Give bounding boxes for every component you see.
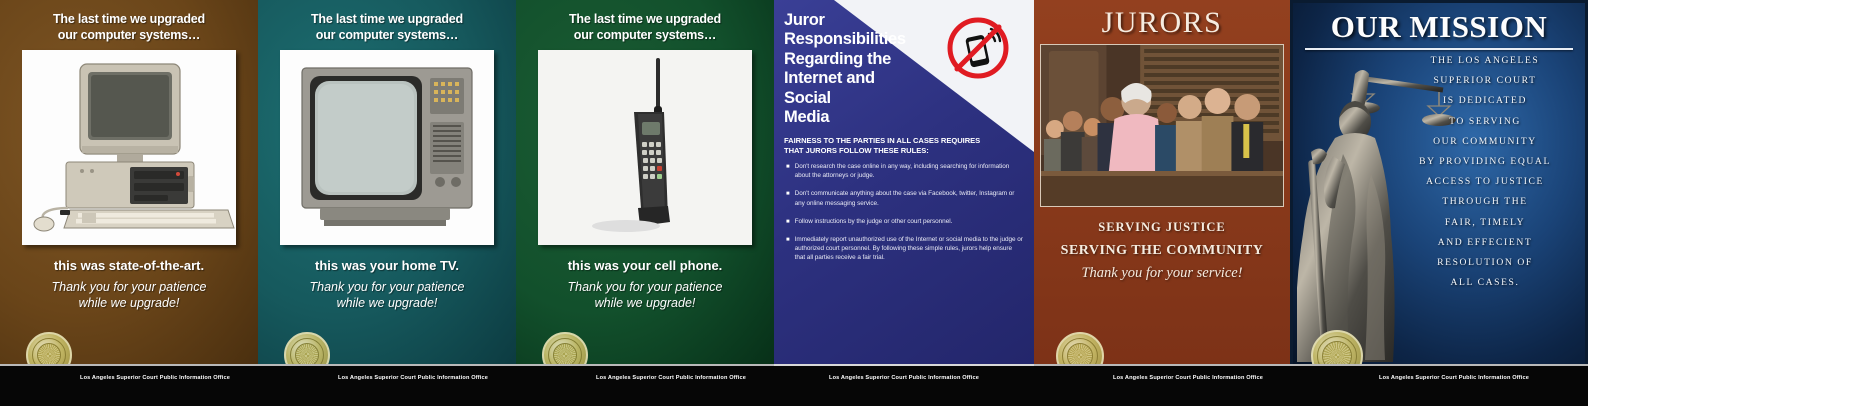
juror-rule-text: Don't communicate anything about the cas… bbox=[795, 189, 1023, 207]
poster-footer: Los Angeles Superior Court Public Inform… bbox=[774, 364, 1034, 406]
headline-line-1: The last time we upgraded bbox=[53, 11, 205, 27]
juror-rule-text: Don't research the case online in any wa… bbox=[795, 162, 1023, 180]
poster-subline: this was state-of-the-art. bbox=[54, 258, 204, 273]
poster-subline: this was your cell phone. bbox=[568, 258, 723, 273]
jurors-caption-2: SERVING THE COMMUNITY bbox=[1040, 243, 1284, 259]
poster-cellphone[interactable]: The last time we upgraded our computer s… bbox=[516, 0, 774, 406]
vintage-television-photo bbox=[280, 50, 494, 245]
mission-line: OUR COMMUNITY bbox=[1395, 136, 1575, 147]
thanks-line-2: while we upgrade! bbox=[310, 295, 465, 311]
juror-rule-item: ■ Don't research the case online in any … bbox=[786, 162, 1023, 180]
juror-title-line-3: Regarding the bbox=[784, 50, 924, 69]
juror-rule-item: ■ Don't communicate anything about the c… bbox=[786, 189, 1023, 207]
poster-footer: Los Angeles Superior Court Public Inform… bbox=[1290, 364, 1588, 406]
juror-intro-line-1: FAIRNESS TO THE PARTIES IN ALL CASES REQ… bbox=[784, 136, 1022, 146]
thanks-line-1: Thank you for your patience bbox=[310, 279, 465, 295]
headline-line-2: our computer systems… bbox=[569, 27, 721, 43]
poster-body: JURORS bbox=[1034, 0, 1290, 364]
headline-line-2: our computer systems… bbox=[311, 27, 463, 43]
mission-line: THROUGH THE bbox=[1395, 196, 1575, 207]
poster-juror-responsibilities[interactable]: Juror Responsibilities Regarding the Int… bbox=[774, 0, 1034, 406]
mission-line: BY PROVIDING EQUAL bbox=[1395, 156, 1575, 167]
juror-title-line-4: Internet and Social bbox=[784, 69, 924, 108]
juror-rule-item: ■ Immediately report unauthorized use of… bbox=[786, 235, 1023, 262]
poster-body: The last time we upgraded our computer s… bbox=[516, 0, 774, 364]
juror-intro: FAIRNESS TO THE PARTIES IN ALL CASES REQ… bbox=[774, 128, 1034, 155]
poster-body: OUR MISSION bbox=[1290, 0, 1588, 364]
footer-credit: Los Angeles Superior Court Public Inform… bbox=[544, 375, 746, 381]
poster-footer: Los Angeles Superior Court Public Inform… bbox=[258, 364, 516, 406]
poster-body: The last time we upgraded our computer s… bbox=[0, 0, 258, 364]
poster-subline: this was your home TV. bbox=[315, 258, 459, 273]
mission-line: RESOLUTION OF bbox=[1395, 257, 1575, 268]
square-bullet-icon: ■ bbox=[786, 217, 790, 226]
poster-body: Juror Responsibilities Regarding the Int… bbox=[774, 0, 1034, 364]
poster-television[interactable]: The last time we upgraded our computer s… bbox=[258, 0, 516, 406]
mission-line: ACCESS TO JUSTICE bbox=[1395, 176, 1575, 187]
juror-title-line-1: Juror bbox=[784, 11, 924, 30]
mission-line: SUPERIOR COURT bbox=[1395, 75, 1575, 86]
headline-line-1: The last time we upgraded bbox=[311, 11, 463, 27]
footer-credit: Los Angeles Superior Court Public Inform… bbox=[286, 375, 488, 381]
juror-rule-text: Follow instructions by the judge or othe… bbox=[795, 217, 953, 226]
thanks-line-1: Thank you for your patience bbox=[568, 279, 723, 295]
mission-statement: THE LOS ANGELES SUPERIOR COURT IS DEDICA… bbox=[1395, 55, 1575, 297]
poster-thanks: Thank you for your patience while we upg… bbox=[52, 279, 207, 312]
headline-line-2: our computer systems… bbox=[53, 27, 205, 43]
poster-computer[interactable]: The last time we upgraded our computer s… bbox=[0, 0, 258, 406]
square-bullet-icon: ■ bbox=[786, 162, 790, 180]
no-cell-phone-icon bbox=[944, 14, 1012, 82]
square-bullet-icon: ■ bbox=[786, 235, 790, 262]
thanks-line-1: Thank you for your patience bbox=[52, 279, 207, 295]
jurors-title: JURORS bbox=[1040, 0, 1284, 38]
mission-line: TO SERVING bbox=[1395, 116, 1575, 127]
juror-title: Juror Responsibilities Regarding the Int… bbox=[774, 0, 924, 128]
juror-intro-line-2: THAT JURORS FOLLOW THESE RULES: bbox=[784, 146, 1022, 156]
juror-title-line-2: Responsibilities bbox=[784, 30, 924, 49]
mission-line: ALL CASES. bbox=[1395, 277, 1575, 288]
poster-body: The last time we upgraded our computer s… bbox=[258, 0, 516, 364]
vintage-cellphone-photo bbox=[538, 50, 752, 245]
juror-rules-list: ■ Don't research the case online in any … bbox=[774, 155, 1034, 262]
footer-credit: Los Angeles Superior Court Public Inform… bbox=[1349, 375, 1529, 381]
mission-line: THE LOS ANGELES bbox=[1395, 55, 1575, 66]
poster-footer: Los Angeles Superior Court Public Inform… bbox=[0, 364, 258, 406]
jury-box-photo bbox=[1040, 44, 1284, 207]
juror-rule-item: ■ Follow instructions by the judge or ot… bbox=[786, 217, 1023, 226]
juror-rule-text: Immediately report unauthorized use of t… bbox=[795, 235, 1023, 262]
footer-credit: Los Angeles Superior Court Public Inform… bbox=[1061, 375, 1263, 381]
footer-credit: Los Angeles Superior Court Public Inform… bbox=[829, 375, 979, 381]
headline-line-1: The last time we upgraded bbox=[569, 11, 721, 27]
poster-headline: The last time we upgraded our computer s… bbox=[569, 11, 721, 43]
poster-jurors[interactable]: JURORS bbox=[1034, 0, 1290, 406]
poster-footer: Los Angeles Superior Court Public Inform… bbox=[516, 364, 774, 406]
square-bullet-icon: ■ bbox=[786, 189, 790, 207]
poster-our-mission[interactable]: OUR MISSION bbox=[1290, 0, 1588, 406]
jurors-caption: SERVING JUSTICE SERVING THE COMMUNITY Th… bbox=[1040, 220, 1284, 282]
poster-footer: Los Angeles Superior Court Public Inform… bbox=[1034, 364, 1290, 406]
juror-title-line-5: Media bbox=[784, 108, 924, 127]
jurors-caption-3: Thank you for your service! bbox=[1040, 265, 1284, 282]
poster-thanks: Thank you for your patience while we upg… bbox=[310, 279, 465, 312]
poster-headline: The last time we upgraded our computer s… bbox=[311, 11, 463, 43]
thanks-line-2: while we upgrade! bbox=[52, 295, 207, 311]
poster-thanks: Thank you for your patience while we upg… bbox=[568, 279, 723, 312]
mission-line: IS DEDICATED bbox=[1395, 95, 1575, 106]
vintage-computer-photo bbox=[22, 50, 236, 245]
poster-strip: The last time we upgraded our computer s… bbox=[0, 0, 1850, 406]
footer-credit: Los Angeles Superior Court Public Inform… bbox=[28, 375, 230, 381]
mission-line: FAIR, TIMELY bbox=[1395, 217, 1575, 228]
jurors-caption-1: SERVING JUSTICE bbox=[1040, 220, 1284, 235]
thanks-line-2: while we upgrade! bbox=[568, 295, 723, 311]
poster-headline: The last time we upgraded our computer s… bbox=[53, 11, 205, 43]
mission-line: AND EFFECIENT bbox=[1395, 237, 1575, 248]
